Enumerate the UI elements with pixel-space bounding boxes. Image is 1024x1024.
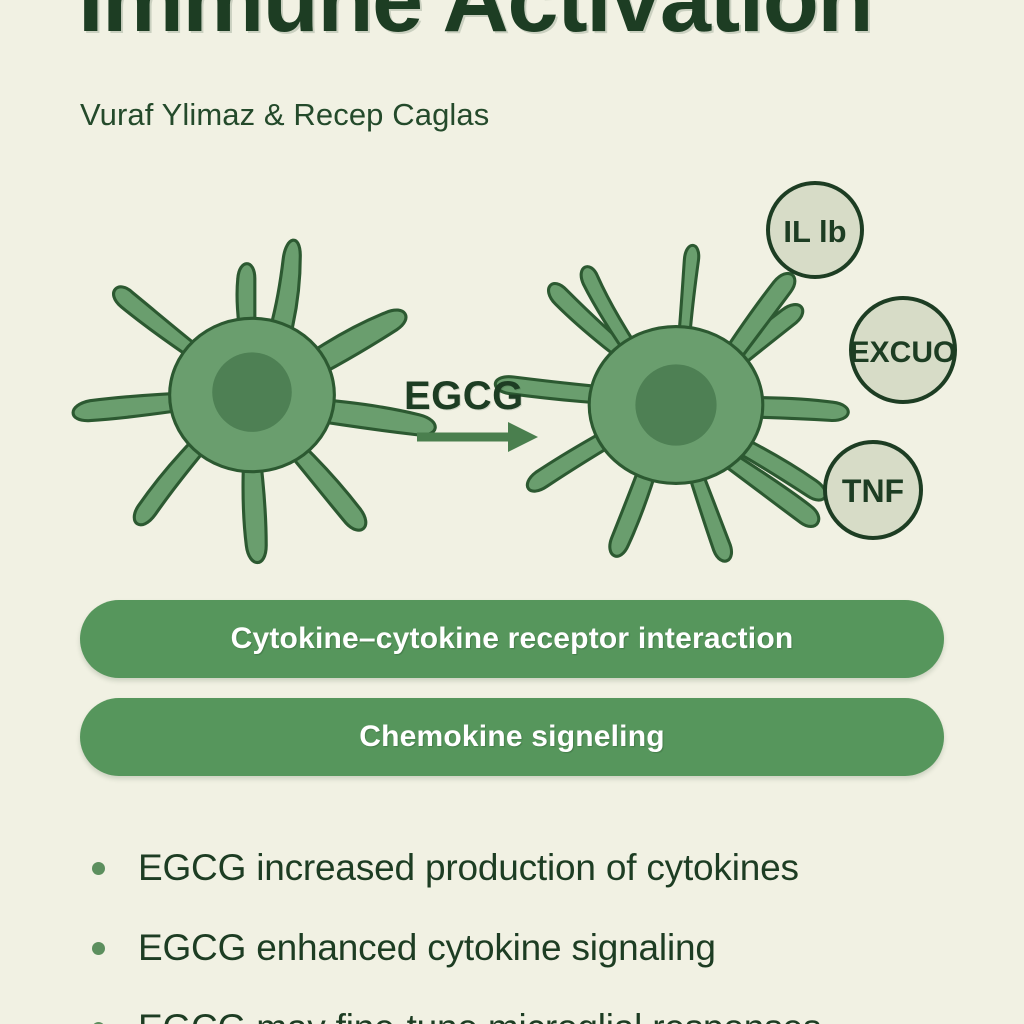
cytokine-bubble-tnf: TNF	[825, 442, 921, 538]
cytokine-bubble-label: IL lb	[783, 214, 846, 249]
bullet-dot-icon	[92, 942, 105, 955]
activated-microglia-cell	[495, 245, 848, 561]
bullet-dot-icon	[92, 862, 105, 875]
cytokine-bubble-label: TNF	[842, 473, 904, 509]
finding-text: EGCG increased production of cytokines	[138, 847, 799, 889]
cytokine-bubble-label: EXCUO	[850, 336, 957, 369]
egcg-label: EGCG	[404, 374, 524, 419]
findings-list: EGCG increased production of cytokines E…	[80, 828, 980, 1024]
list-item: EGCG may fine-tune microglial responses	[80, 988, 980, 1024]
resting-microglia-cell	[73, 240, 435, 562]
poster-canvas: Immune Activation Vuraf Ylimaz & Recep C…	[0, 0, 1024, 1024]
cytokine-bubble-excuo: EXCUO	[850, 298, 957, 402]
pathway-pill-cytokine-receptor[interactable]: Cytokine–cytokine receptor interaction	[80, 600, 944, 678]
pathway-label: Chemokine signeling	[359, 720, 665, 754]
list-item: EGCG enhanced cytokine signaling	[80, 908, 980, 988]
cytokine-bubble-il1b: IL lb	[768, 183, 862, 277]
page-title: Immune Activation	[78, 0, 978, 46]
pathway-pill-chemokine-signaling[interactable]: Chemokine signeling	[80, 698, 944, 776]
diagram-stage: IL lb EXCUO TNF EGCG	[0, 150, 1024, 580]
finding-text: EGCG may fine-tune microglial responses	[138, 1007, 821, 1024]
list-item: EGCG increased production of cytokines	[80, 828, 980, 908]
authors-line: Vuraf Ylimaz & Recep Caglas	[80, 97, 489, 133]
pathway-label: Cytokine–cytokine receptor interaction	[231, 622, 794, 656]
finding-text: EGCG enhanced cytokine signaling	[138, 927, 716, 969]
